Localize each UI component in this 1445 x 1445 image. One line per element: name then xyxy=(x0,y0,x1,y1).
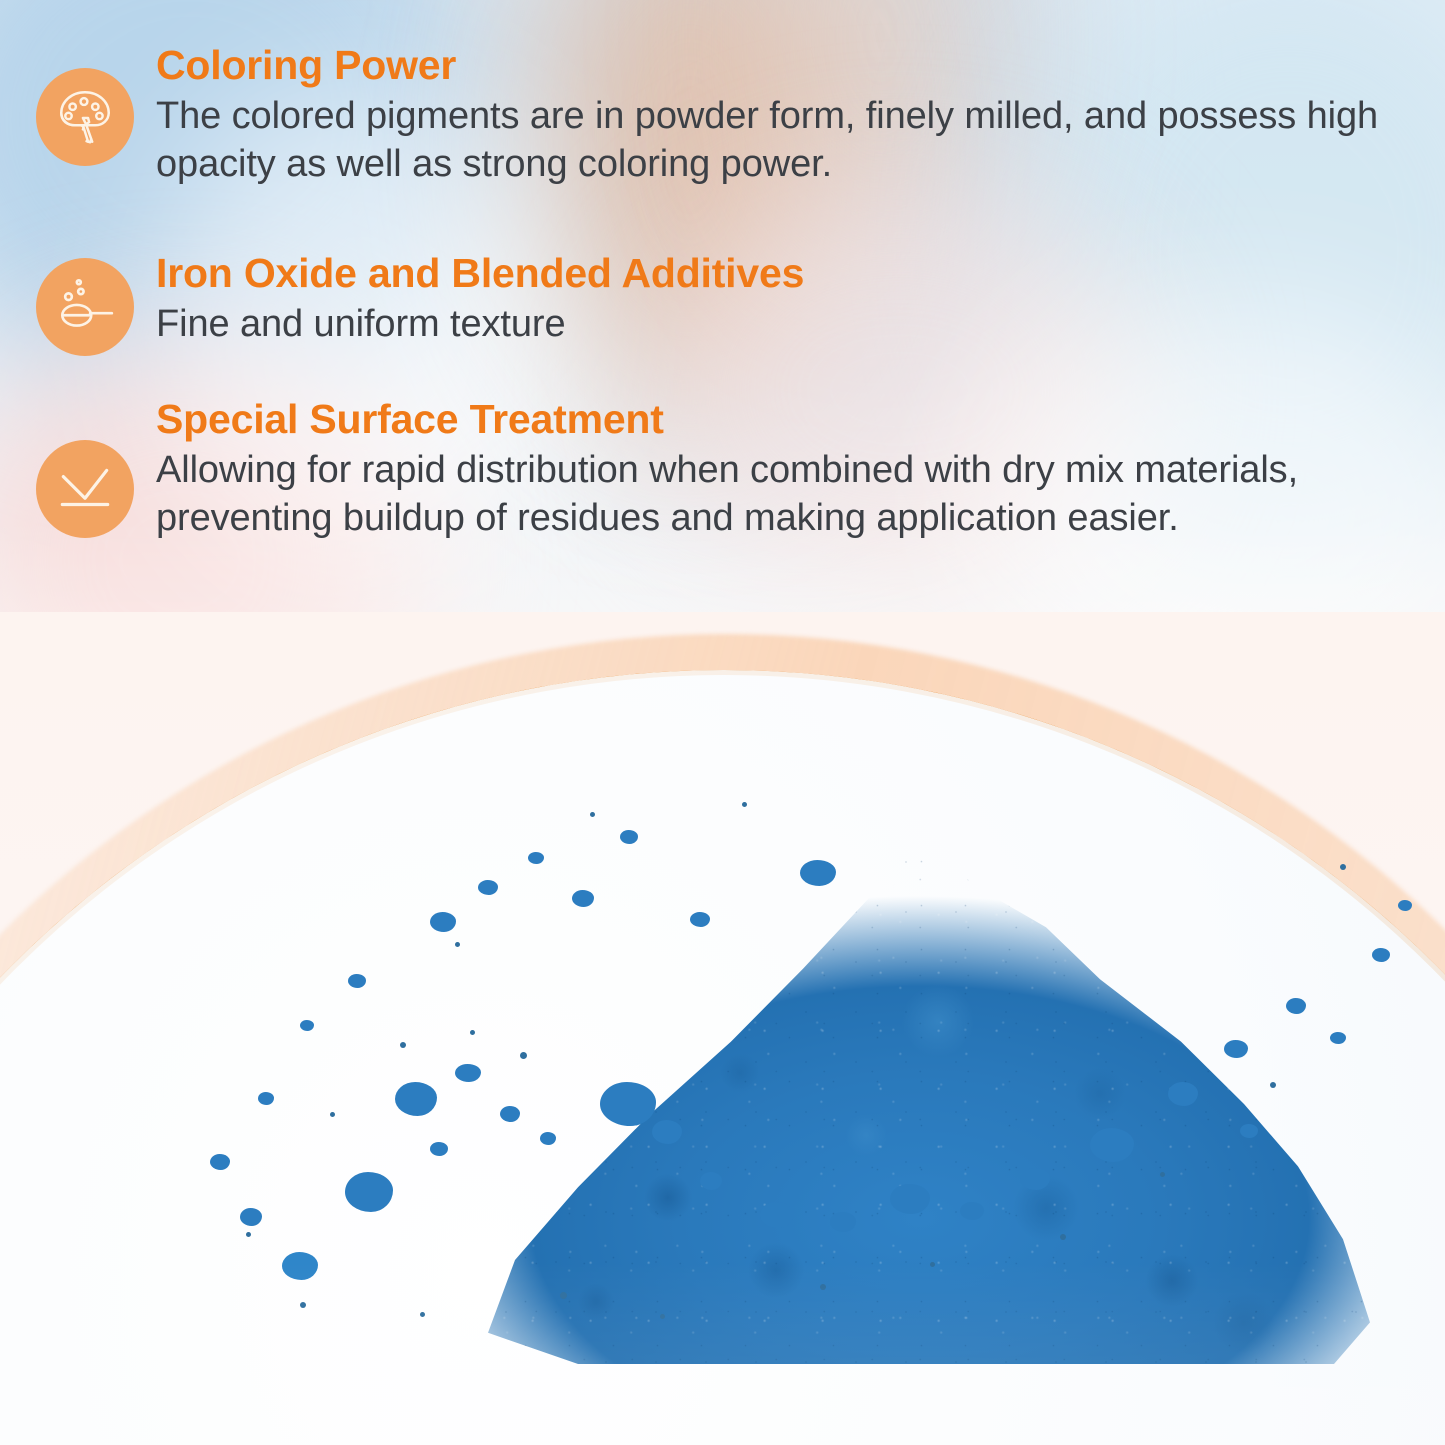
powder-speck xyxy=(246,1232,251,1237)
powder-granule xyxy=(430,1142,448,1156)
powder-speck xyxy=(1160,1172,1165,1177)
powder-granule xyxy=(600,1082,656,1126)
chevron-down-line-icon xyxy=(36,440,134,538)
powder-speck xyxy=(820,1284,826,1290)
feature-body: The colored pigments are in powder form,… xyxy=(156,92,1445,189)
powder-granule xyxy=(1090,1128,1134,1162)
powder-granule xyxy=(258,1092,274,1105)
powder-granule xyxy=(1224,1040,1248,1058)
powder-speck xyxy=(330,1112,335,1117)
powder-granule xyxy=(395,1082,437,1116)
feature-body: Allowing for rapid distribution when com… xyxy=(156,446,1445,543)
feature-item-iron-oxide-additives: Iron Oxide and Blended Additives Fine an… xyxy=(36,252,804,356)
powder-speck xyxy=(1060,1234,1066,1240)
product-feature-infographic: Coloring Power The colored pigments are … xyxy=(0,0,1445,1445)
powder-granule xyxy=(800,860,836,886)
pigment-powder-group xyxy=(0,612,1445,1445)
powder-granule xyxy=(1398,900,1412,911)
feature-text-block: Iron Oxide and Blended Additives Fine an… xyxy=(156,252,804,348)
feature-title: Special Surface Treatment xyxy=(156,398,1445,442)
powder-granule xyxy=(652,1120,682,1144)
powder-granule xyxy=(500,1106,520,1122)
feature-text-block: Special Surface Treatment Allowing for r… xyxy=(156,398,1445,543)
powder-granule xyxy=(690,912,710,927)
powder-granule xyxy=(348,974,366,988)
powder-granule xyxy=(830,1212,856,1232)
powder-speck xyxy=(300,1302,306,1308)
powder-granule xyxy=(620,830,638,844)
powder-granule xyxy=(210,1154,230,1170)
powder-granule xyxy=(1372,948,1390,962)
powder-granule xyxy=(300,1020,314,1031)
powder-granule xyxy=(960,1202,984,1220)
powder-granule xyxy=(540,1132,556,1145)
paint-palette-icon xyxy=(36,68,134,166)
feature-item-special-surface-treatment: Special Surface Treatment Allowing for r… xyxy=(36,398,1445,543)
powder-granule xyxy=(1240,1124,1258,1138)
powder-speck xyxy=(742,802,747,807)
feature-title: Iron Oxide and Blended Additives xyxy=(156,252,804,296)
powder-speck xyxy=(420,1312,425,1317)
powder-granule xyxy=(282,1252,318,1280)
powder-granule xyxy=(478,880,498,895)
powder-granule xyxy=(1286,998,1306,1014)
feature-text-block: Coloring Power The colored pigments are … xyxy=(156,44,1445,189)
powder-granule xyxy=(760,1202,794,1228)
powder-speck xyxy=(590,812,595,817)
powder-granule xyxy=(455,1064,481,1082)
powder-granule xyxy=(700,1172,722,1190)
powder-granule xyxy=(572,890,594,907)
feature-body: Fine and uniform texture xyxy=(156,300,804,349)
powder-speck xyxy=(470,1030,475,1035)
feature-title: Coloring Power xyxy=(156,44,1445,88)
powder-spoon-icon xyxy=(36,258,134,356)
powder-granule xyxy=(1168,1082,1198,1106)
powder-speck xyxy=(400,1042,406,1048)
powder-speck xyxy=(455,942,460,947)
powder-speck xyxy=(660,1314,665,1319)
powder-granule xyxy=(240,1208,262,1226)
powder-speck xyxy=(930,1262,935,1267)
feature-item-coloring-power: Coloring Power The colored pigments are … xyxy=(36,44,1445,189)
powder-speck xyxy=(560,1292,567,1299)
powder-granule xyxy=(1330,1032,1346,1044)
powder-granule xyxy=(1020,1168,1050,1190)
powder-granule xyxy=(528,852,544,864)
powder-granule xyxy=(345,1172,393,1212)
powder-speck xyxy=(520,1052,527,1059)
powder-speck xyxy=(1270,1082,1276,1088)
powder-granule xyxy=(890,1184,930,1214)
powder-granule xyxy=(430,912,456,932)
powder-speck xyxy=(1340,864,1346,870)
product-photo xyxy=(0,612,1445,1445)
